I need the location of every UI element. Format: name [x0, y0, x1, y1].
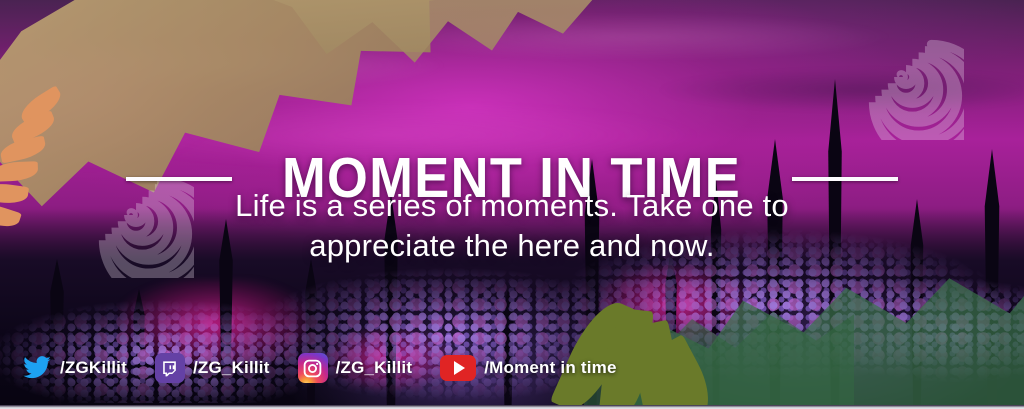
subtitle-line-1: Life is a series of moments. Take one to — [150, 186, 874, 226]
social-link-twitter[interactable]: /ZGKillit — [22, 353, 127, 383]
social-handle-youtube: /Moment in time — [484, 358, 616, 378]
title-rule-left — [126, 177, 232, 181]
social-handle-twitter: /ZGKillit — [60, 358, 127, 378]
twitch-icon[interactable] — [155, 353, 185, 383]
bottom-edge-strip — [0, 405, 1024, 409]
twitter-icon[interactable] — [22, 353, 52, 383]
play-triangle-icon — [454, 361, 465, 375]
moment-in-time-banner: MOMENT IN TIME Life is a series of momen… — [0, 0, 1024, 409]
social-handle-instagram: /ZG_Killit — [336, 358, 413, 378]
subtitle-line-2: appreciate the here and now. — [150, 226, 874, 266]
social-link-twitch[interactable]: /ZG_Killit — [155, 353, 270, 383]
instagram-icon[interactable] — [298, 353, 328, 383]
social-link-instagram[interactable]: /ZG_Killit — [298, 353, 413, 383]
youtube-icon[interactable] — [440, 355, 476, 381]
social-bar: /ZGKillit /ZG_Killit /ZG_Killit — [22, 353, 645, 383]
social-link-youtube[interactable]: /Moment in time — [440, 355, 616, 381]
title-rule-right — [792, 177, 898, 181]
subtitle: Life is a series of moments. Take one to… — [0, 186, 1024, 267]
social-handle-twitch: /ZG_Killit — [193, 358, 270, 378]
